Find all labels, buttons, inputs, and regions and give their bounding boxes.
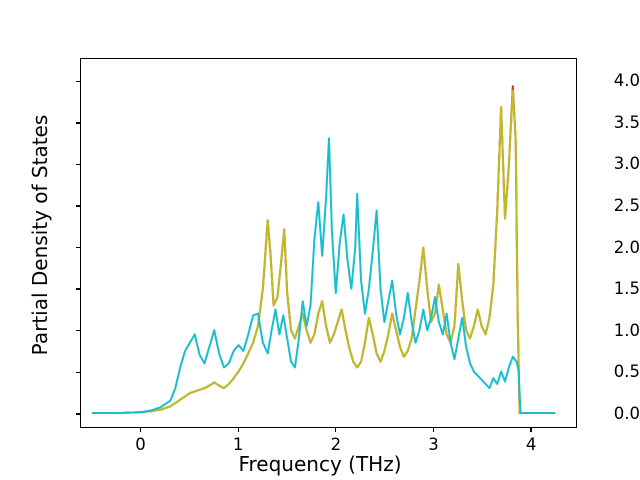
curve-series-red	[93, 86, 555, 413]
chart-figure: 0.00.51.01.52.02.53.03.54.0 01234 Freque…	[0, 0, 640, 480]
y-tick-mark	[76, 81, 80, 82]
y-tick-mark	[76, 330, 80, 331]
x-tick-mark	[335, 428, 336, 432]
plot-curves	[81, 59, 576, 427]
curve-series-olive	[93, 90, 555, 413]
x-tick-mark	[140, 428, 141, 432]
y-tick-label: 2.5	[568, 198, 640, 215]
plot-axes-frame	[80, 58, 577, 428]
x-tick-mark	[530, 428, 531, 432]
curve-series-cyan	[93, 138, 555, 413]
x-tick-mark	[238, 428, 239, 432]
y-tick-mark	[76, 413, 80, 414]
x-axis-label: Frequency (THz)	[0, 452, 640, 476]
y-tick-label: 3.5	[568, 115, 640, 132]
y-axis-label: Partial Density of States	[28, 35, 52, 435]
y-tick-label: 1.5	[568, 281, 640, 298]
y-tick-mark	[76, 372, 80, 373]
y-tick-mark	[76, 164, 80, 165]
y-tick-mark	[76, 288, 80, 289]
y-tick-label: 2.0	[568, 240, 640, 257]
y-tick-mark	[76, 205, 80, 206]
x-tick-mark	[433, 428, 434, 432]
y-tick-label: 0.5	[568, 364, 640, 381]
y-tick-label: 3.0	[568, 156, 640, 173]
y-tick-label: 0.0	[568, 406, 640, 423]
y-tick-label: 1.0	[568, 323, 640, 340]
y-tick-mark	[76, 247, 80, 248]
y-tick-mark	[76, 122, 80, 123]
y-tick-label: 4.0	[568, 73, 640, 90]
